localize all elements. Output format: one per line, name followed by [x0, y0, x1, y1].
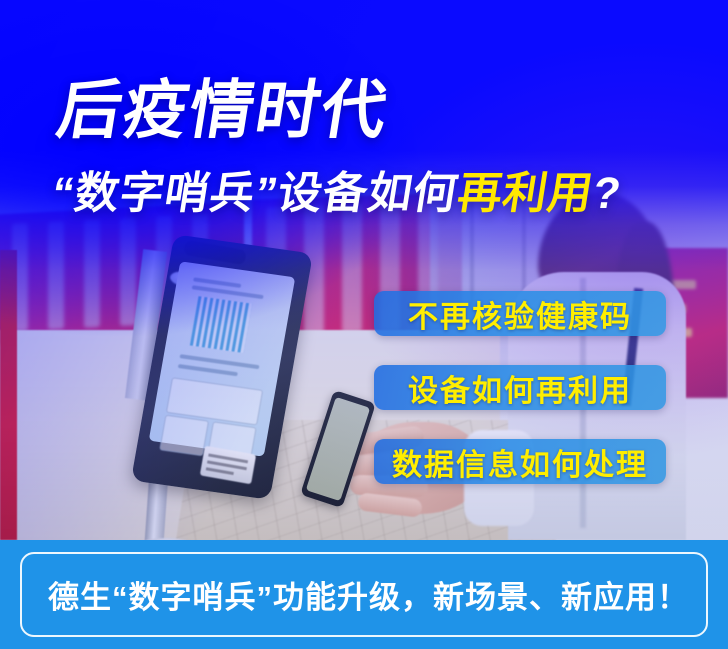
red-strip-left: [0, 250, 17, 540]
topic-pill-3-label: 数据信息如何处理: [392, 440, 648, 484]
topic-pill-2-label: 设备如何再利用: [408, 366, 632, 410]
subtitle-prefix: “数字哨兵”设备如何: [48, 169, 462, 218]
bottom-banner-frame: 德生“数字哨兵”功能升级，新场景、新应用！: [20, 552, 708, 637]
bottom-banner: 德生“数字哨兵”功能升级，新场景、新应用！: [0, 540, 728, 649]
topic-pill-1[interactable]: 不再核验健康码: [374, 291, 666, 336]
subtitle-highlight: 再利用: [454, 169, 597, 218]
topic-pill-list: 不再核验健康码 设备如何再利用 数据信息如何处理: [374, 291, 666, 513]
topic-pill-3[interactable]: 数据信息如何处理: [374, 439, 666, 484]
topic-pill-2[interactable]: 设备如何再利用: [374, 365, 666, 410]
bottom-banner-text: 德生“数字哨兵”功能升级，新场景、新应用！: [48, 572, 689, 617]
page-title: 后疫情时代: [53, 78, 393, 142]
page-subtitle: “数字哨兵”设备如何再利用?: [49, 172, 625, 216]
topic-pill-1-label: 不再核验健康码: [408, 292, 632, 336]
poster: 后疫情时代 “数字哨兵”设备如何再利用? 不再核验健康码 设备如何再利用 数据信…: [0, 0, 728, 649]
